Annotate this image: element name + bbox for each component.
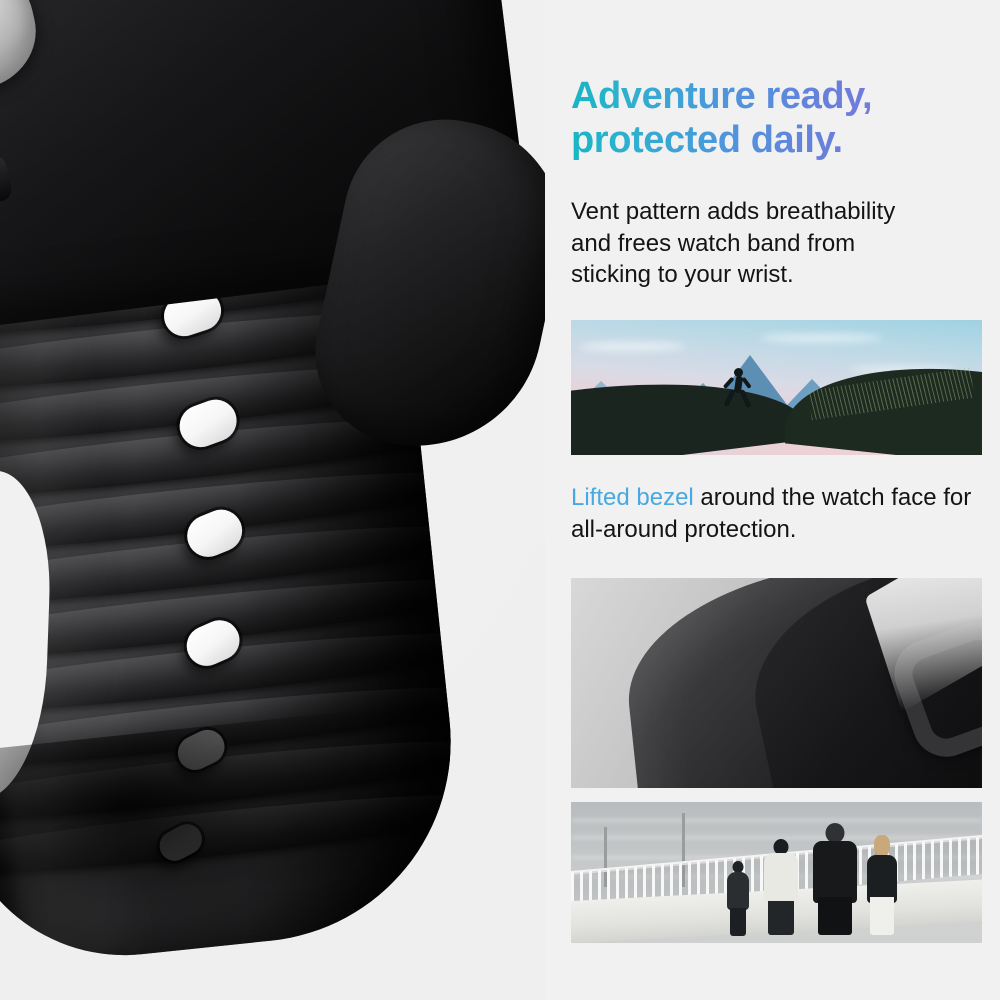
group-promenade-photo: [571, 802, 982, 943]
case-notch: [0, 153, 14, 232]
person-silhouette: [813, 823, 857, 935]
caption-accent: Lifted bezel: [571, 484, 694, 511]
bezel-caption: Lifted bezel around the watch face for a…: [571, 482, 989, 545]
product-hero-image: [0, 0, 545, 1000]
person-silhouette: [867, 835, 897, 935]
sensor-disc: [0, 0, 47, 104]
content-column: Adventure ready, protected daily. Vent p…: [571, 0, 982, 1000]
bezel-macro-photo: [571, 578, 982, 788]
person-silhouette: [764, 839, 798, 935]
marketing-page: Adventure ready, protected daily. Vent p…: [0, 0, 1000, 1000]
body-copy: Vent pattern adds breathability and free…: [571, 196, 989, 291]
runner-silhouette: [727, 368, 753, 410]
person-silhouette: [727, 861, 749, 935]
runner-mountains-photo: [571, 320, 982, 455]
page-title: Adventure ready, protected daily.: [571, 74, 991, 162]
